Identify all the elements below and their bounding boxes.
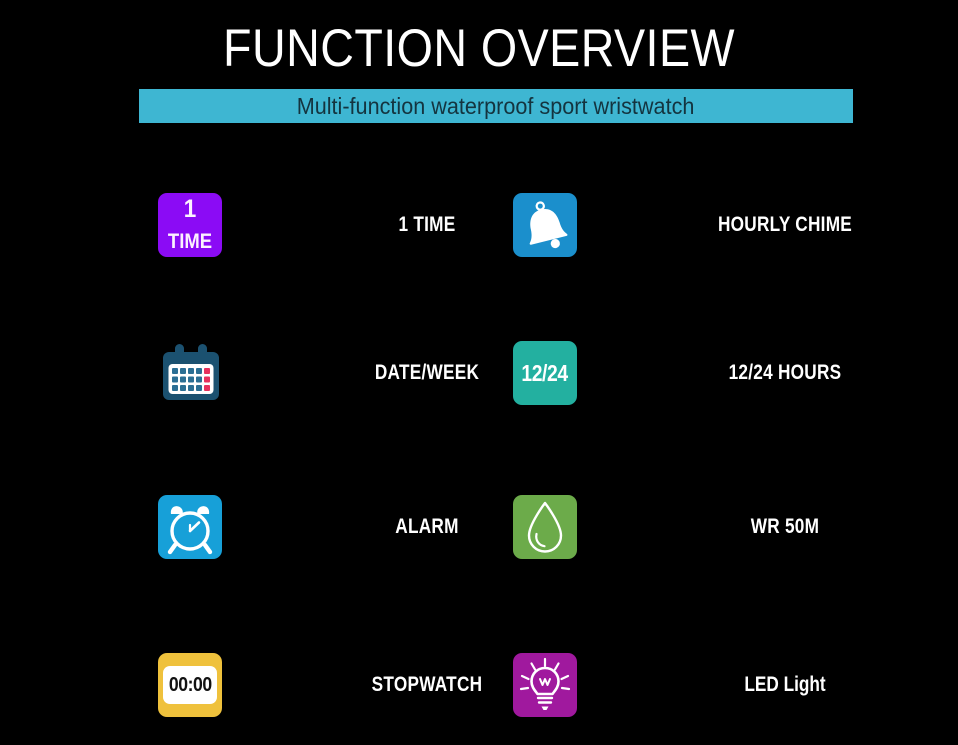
calendar-icon — [158, 340, 224, 406]
feature-label-alarm-wrap: ALARM — [322, 492, 532, 562]
feature-label-date-week-wrap: DATE/WEEK — [322, 338, 532, 408]
feature-item-hourly-chime — [513, 190, 577, 260]
feature-grid: 1 TIME 1 TIME HOURLY CHIME — [140, 160, 958, 740]
one-time-icon: 1 TIME — [158, 193, 222, 257]
feature-item-twelve-twentyfour: 12/24 — [513, 338, 577, 408]
feature-label-date-week: DATE/WEEK — [341, 361, 513, 385]
feature-label-stopwatch: STOPWATCH — [341, 673, 513, 697]
twelve-twentyfour-icon-text: 12/24 — [522, 362, 568, 385]
feature-item-alarm — [158, 492, 222, 562]
feature-label-led-light-wrap: LED Light — [680, 650, 890, 720]
subtitle-text: Multi-function waterproof sport wristwat… — [297, 93, 695, 120]
feature-label-one-time: 1 TIME — [341, 213, 513, 237]
one-time-icon-top-text: 1 — [161, 197, 219, 222]
feature-label-stopwatch-wrap: STOPWATCH — [322, 650, 532, 720]
feature-label-alarm: ALARM — [341, 515, 513, 539]
alarm-clock-icon — [158, 495, 222, 559]
feature-label-hourly-chime: HOURLY CHIME — [699, 213, 871, 237]
twelve-twentyfour-icon: 12/24 — [513, 341, 577, 405]
feature-item-one-time: 1 TIME — [158, 190, 222, 260]
feature-item-led-light — [513, 650, 577, 720]
function-overview-infographic: FUNCTION OVERVIEW Multi-function waterpr… — [0, 0, 958, 745]
one-time-icon-bottom-text: TIME — [162, 231, 218, 252]
water-drop-icon — [513, 495, 577, 559]
feature-label-led-light: LED Light — [699, 673, 871, 697]
page-title: FUNCTION OVERVIEW — [57, 18, 900, 79]
subtitle-banner: Multi-function waterproof sport wristwat… — [139, 89, 853, 123]
feature-label-twelve-twentyfour-wrap: 12/24 HOURS — [680, 338, 890, 408]
bell-icon — [513, 193, 577, 257]
feature-label-water-resistance-wrap: WR 50M — [680, 492, 890, 562]
feature-label-hourly-chime-wrap: HOURLY CHIME — [680, 190, 890, 260]
feature-label-twelve-twentyfour: 12/24 HOURS — [699, 361, 871, 385]
feature-label-water-resistance: WR 50M — [699, 515, 871, 539]
feature-item-stopwatch: 00:00 — [158, 650, 222, 720]
stopwatch-icon-text: 00:00 — [169, 675, 212, 695]
stopwatch-icon-screen: 00:00 — [163, 666, 217, 704]
feature-item-water-resistance — [513, 492, 577, 562]
feature-label-one-time-wrap: 1 TIME — [322, 190, 532, 260]
feature-item-date-week — [158, 338, 224, 408]
stopwatch-icon: 00:00 — [158, 653, 222, 717]
light-bulb-icon — [513, 653, 577, 717]
